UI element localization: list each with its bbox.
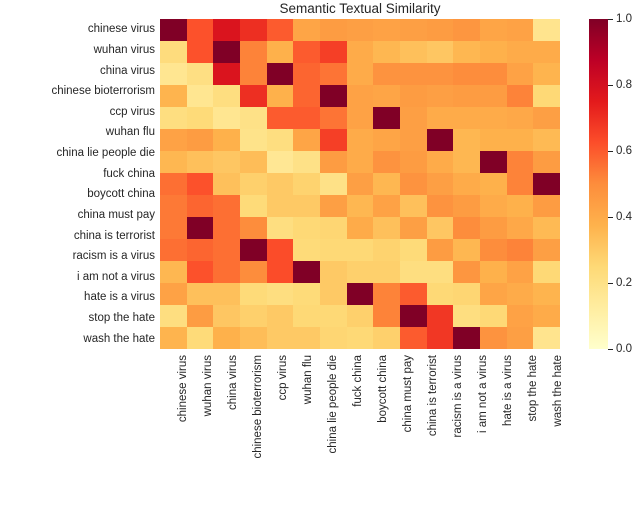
heatmap-cell bbox=[187, 195, 214, 217]
heatmap-cell bbox=[213, 327, 240, 349]
heatmap-cell bbox=[293, 261, 320, 283]
heatmap-cell bbox=[373, 283, 400, 305]
heatmap-cell bbox=[533, 261, 560, 283]
heatmap-cell bbox=[320, 151, 347, 173]
heatmap-cell bbox=[213, 41, 240, 63]
y-tick-i-am-not-a-virus: i am not a virus bbox=[0, 271, 155, 283]
heatmap-cell bbox=[480, 129, 507, 151]
heatmap-cell bbox=[453, 283, 480, 305]
colorbar-tick-label-1.0: 1.0 bbox=[616, 13, 632, 25]
heatmap-cell bbox=[320, 283, 347, 305]
x-tick-china-is-terrorist: china is terrorist bbox=[427, 355, 439, 436]
heatmap-cell bbox=[320, 261, 347, 283]
heatmap-cell bbox=[373, 173, 400, 195]
heatmap-cell bbox=[187, 129, 214, 151]
heatmap-cell bbox=[320, 129, 347, 151]
heatmap-cell bbox=[240, 107, 267, 129]
heatmap-cell bbox=[533, 173, 560, 195]
heatmap-cell bbox=[400, 41, 427, 63]
heatmap-cell bbox=[507, 129, 534, 151]
heatmap-cell bbox=[160, 283, 187, 305]
heatmap-cell bbox=[187, 63, 214, 85]
x-tick-i-am-not-a-virus: i am not a virus bbox=[477, 355, 489, 433]
heatmap-cell bbox=[507, 107, 534, 129]
heatmap-cell bbox=[427, 107, 454, 129]
heatmap-cell bbox=[533, 239, 560, 261]
heatmap-cell bbox=[267, 173, 294, 195]
heatmap-cell bbox=[453, 107, 480, 129]
heatmap-cell bbox=[427, 41, 454, 63]
heatmap-cell bbox=[480, 283, 507, 305]
heatmap-cell bbox=[373, 151, 400, 173]
heatmap-cell bbox=[347, 85, 374, 107]
heatmap-cell bbox=[240, 283, 267, 305]
heatmap-cell bbox=[507, 261, 534, 283]
heatmap-cell bbox=[347, 261, 374, 283]
heatmap-cell bbox=[427, 85, 454, 107]
x-axis-ticklabels: chinese viruswuhan viruschina viruschine… bbox=[160, 349, 560, 508]
heatmap-cell bbox=[533, 107, 560, 129]
heatmap-cell bbox=[267, 261, 294, 283]
heatmap-cell bbox=[480, 173, 507, 195]
heatmap-cell bbox=[320, 107, 347, 129]
heatmap-cell bbox=[160, 63, 187, 85]
heatmap-cell bbox=[267, 151, 294, 173]
heatmap-cell bbox=[293, 173, 320, 195]
heatmap-cell bbox=[213, 195, 240, 217]
heatmap-cell bbox=[533, 151, 560, 173]
heatmap-cell bbox=[400, 63, 427, 85]
heatmap-cell bbox=[400, 151, 427, 173]
heatmap-cell bbox=[480, 85, 507, 107]
heatmap-cell bbox=[400, 19, 427, 41]
y-tick-chinese-virus: chinese virus bbox=[0, 23, 155, 35]
heatmap-cell bbox=[400, 85, 427, 107]
heatmap-cell bbox=[507, 217, 534, 239]
heatmap-cell bbox=[213, 217, 240, 239]
heatmap-cell bbox=[480, 63, 507, 85]
y-tick-ccp-virus: ccp virus bbox=[0, 106, 155, 118]
heatmap-cell bbox=[320, 327, 347, 349]
heatmap-cell bbox=[507, 195, 534, 217]
heatmap-cell bbox=[187, 107, 214, 129]
heatmap-cell bbox=[480, 19, 507, 41]
colorbar-tick-label-0.4: 0.4 bbox=[616, 211, 632, 223]
heatmap-cell bbox=[373, 217, 400, 239]
heatmap-cell bbox=[507, 305, 534, 327]
heatmap-cell bbox=[267, 63, 294, 85]
heatmap-cell bbox=[240, 41, 267, 63]
heatmap-cell bbox=[427, 151, 454, 173]
heatmap-cell bbox=[533, 217, 560, 239]
heatmap-cell bbox=[373, 107, 400, 129]
heatmap-cell bbox=[347, 305, 374, 327]
heatmap-cell bbox=[507, 151, 534, 173]
heatmap-cell bbox=[267, 129, 294, 151]
heatmap-cell bbox=[187, 85, 214, 107]
heatmap-cell bbox=[213, 85, 240, 107]
y-tick-wash-the-hate: wash the hate bbox=[0, 333, 155, 345]
y-axis-ticklabels: chinese viruswuhan viruschina viruschine… bbox=[0, 19, 155, 349]
heatmap-cell bbox=[160, 107, 187, 129]
heatmap-cell bbox=[187, 173, 214, 195]
heatmap-cell bbox=[160, 305, 187, 327]
heatmap-cell bbox=[160, 195, 187, 217]
heatmap-cell bbox=[267, 107, 294, 129]
heatmap-cell bbox=[400, 239, 427, 261]
heatmap-cell bbox=[320, 305, 347, 327]
heatmap-cell bbox=[160, 41, 187, 63]
heatmap-cell bbox=[293, 283, 320, 305]
heatmap-cell bbox=[427, 327, 454, 349]
heatmap-cell bbox=[427, 217, 454, 239]
y-tick-china-virus: china virus bbox=[0, 65, 155, 77]
heatmap-cell bbox=[347, 63, 374, 85]
heatmap-cell bbox=[453, 239, 480, 261]
heatmap-cell bbox=[213, 129, 240, 151]
heatmap-cell bbox=[267, 195, 294, 217]
heatmap-cell bbox=[213, 19, 240, 41]
x-tick-ccp-virus: ccp virus bbox=[277, 355, 289, 400]
chart-title: Semantic Textual Similarity bbox=[160, 1, 560, 17]
colorbar-tick-mark bbox=[608, 19, 613, 20]
heatmap-cell bbox=[373, 63, 400, 85]
heatmap-cell bbox=[160, 261, 187, 283]
heatmap-cell bbox=[267, 85, 294, 107]
heatmap-cell bbox=[320, 19, 347, 41]
heatmap-cell bbox=[347, 327, 374, 349]
y-tick-boycott-china: boycott china bbox=[0, 188, 155, 200]
heatmap-cell bbox=[453, 305, 480, 327]
heatmap-cell bbox=[347, 129, 374, 151]
heatmap-cell bbox=[347, 107, 374, 129]
heatmap-cell bbox=[240, 261, 267, 283]
x-tick-wuhan-virus: wuhan virus bbox=[202, 355, 214, 416]
heatmap-cell bbox=[427, 173, 454, 195]
heatmap-cell bbox=[347, 41, 374, 63]
heatmap-cell bbox=[480, 261, 507, 283]
heatmap-cell bbox=[400, 217, 427, 239]
x-tick-wuhan-flu: wuhan flu bbox=[302, 355, 314, 404]
heatmap-cell bbox=[453, 63, 480, 85]
x-tick-fuck-china: fuck china bbox=[352, 355, 364, 407]
heatmap-cell bbox=[373, 41, 400, 63]
heatmap-cell bbox=[533, 195, 560, 217]
heatmap-cell bbox=[240, 19, 267, 41]
heatmap-cell bbox=[293, 305, 320, 327]
heatmap-cell bbox=[347, 217, 374, 239]
heatmap-cell bbox=[453, 19, 480, 41]
x-tick-china-virus: china virus bbox=[227, 355, 239, 410]
heatmap-cell bbox=[347, 283, 374, 305]
heatmap-cell bbox=[160, 151, 187, 173]
heatmap-cell bbox=[427, 129, 454, 151]
heatmap-cell bbox=[240, 195, 267, 217]
heatmap-cell bbox=[533, 283, 560, 305]
heatmap-cell bbox=[240, 63, 267, 85]
heatmap-cell bbox=[427, 283, 454, 305]
heatmap-cell bbox=[453, 173, 480, 195]
x-tick-chinese-bioterrorism: chinese bioterrorism bbox=[252, 355, 264, 459]
y-tick-stop-the-hate: stop the hate bbox=[0, 312, 155, 324]
y-tick-wuhan-flu: wuhan flu bbox=[0, 126, 155, 138]
x-tick-stop-the-hate: stop the hate bbox=[527, 355, 539, 422]
heatmap-cell bbox=[480, 41, 507, 63]
heatmap-cell bbox=[187, 327, 214, 349]
heatmap-cell bbox=[373, 19, 400, 41]
heatmap-cell bbox=[320, 173, 347, 195]
heatmap-cell bbox=[187, 19, 214, 41]
x-tick-chinese-virus: chinese virus bbox=[177, 355, 189, 422]
x-tick-china-must-pay: china must pay bbox=[402, 355, 414, 432]
heatmap-cell bbox=[533, 41, 560, 63]
heatmap-cell bbox=[533, 85, 560, 107]
heatmap-cell bbox=[373, 85, 400, 107]
heatmap-cell bbox=[480, 305, 507, 327]
heatmap-cell bbox=[453, 261, 480, 283]
heatmap-cell bbox=[373, 129, 400, 151]
heatmap-cell bbox=[347, 173, 374, 195]
heatmap-cell bbox=[533, 327, 560, 349]
colorbar-tick-mark bbox=[608, 217, 613, 218]
heatmap-cell bbox=[267, 327, 294, 349]
colorbar-tick-label-0.2: 0.2 bbox=[616, 277, 632, 289]
heatmap-cell bbox=[320, 85, 347, 107]
heatmap-cell bbox=[293, 239, 320, 261]
heatmap-cell bbox=[240, 129, 267, 151]
heatmap-cell bbox=[480, 151, 507, 173]
colorbar-tick-mark bbox=[608, 151, 613, 152]
heatmap-cell bbox=[507, 41, 534, 63]
heatmap-cell bbox=[453, 195, 480, 217]
heatmap-plot-area bbox=[160, 19, 560, 349]
heatmap-cell bbox=[293, 85, 320, 107]
heatmap-cell bbox=[400, 261, 427, 283]
heatmap-cell bbox=[213, 305, 240, 327]
heatmap-cell bbox=[160, 19, 187, 41]
heatmap-cell bbox=[533, 129, 560, 151]
heatmap-cell bbox=[187, 151, 214, 173]
heatmap-cell bbox=[293, 195, 320, 217]
heatmap-cell bbox=[453, 85, 480, 107]
colorbar-tick-label-0.0: 0.0 bbox=[616, 343, 632, 355]
heatmap-cell bbox=[187, 261, 214, 283]
heatmap-cell bbox=[400, 283, 427, 305]
colorbar-tick-mark bbox=[608, 349, 613, 350]
heatmap-cell bbox=[240, 305, 267, 327]
heatmap-cell bbox=[240, 239, 267, 261]
heatmap-cell bbox=[213, 173, 240, 195]
heatmap-cell bbox=[187, 41, 214, 63]
heatmap-cell bbox=[187, 239, 214, 261]
heatmap-cell bbox=[453, 41, 480, 63]
y-tick-china-lie-people-die: china lie people die bbox=[0, 147, 155, 159]
heatmap-cell bbox=[453, 217, 480, 239]
heatmap-cell bbox=[400, 173, 427, 195]
heatmap-cell bbox=[160, 129, 187, 151]
heatmap-cell bbox=[507, 283, 534, 305]
heatmap-cell bbox=[240, 217, 267, 239]
heatmap-cell bbox=[507, 327, 534, 349]
x-tick-racism-is-a-virus: racism is a virus bbox=[452, 355, 464, 437]
heatmap-cell bbox=[267, 239, 294, 261]
x-tick-wash-the-hate: wash the hate bbox=[552, 355, 564, 427]
heatmap-cell bbox=[427, 261, 454, 283]
heatmap-cell bbox=[267, 217, 294, 239]
x-tick-hate-is-a-virus: hate is a virus bbox=[502, 355, 514, 426]
heatmap-cell bbox=[187, 217, 214, 239]
heatmap-cell bbox=[160, 173, 187, 195]
y-tick-china-must-pay: china must pay bbox=[0, 209, 155, 221]
heatmap-cell bbox=[320, 195, 347, 217]
heatmap-cell bbox=[347, 19, 374, 41]
y-tick-fuck-china: fuck china bbox=[0, 168, 155, 180]
heatmap-cell bbox=[373, 261, 400, 283]
y-tick-chinese-bioterrorism: chinese bioterrorism bbox=[0, 85, 155, 97]
heatmap-cell bbox=[347, 239, 374, 261]
heatmap-cell bbox=[293, 63, 320, 85]
heatmap-cell bbox=[293, 107, 320, 129]
heatmap-cell bbox=[480, 217, 507, 239]
heatmap-cell bbox=[373, 305, 400, 327]
y-tick-china-is-terrorist: china is terrorist bbox=[0, 230, 155, 242]
heatmap-cell bbox=[213, 239, 240, 261]
heatmap-cell bbox=[427, 239, 454, 261]
heatmap-cell bbox=[400, 305, 427, 327]
heatmap-grid bbox=[160, 19, 560, 349]
heatmap-cell bbox=[507, 239, 534, 261]
heatmap-cell bbox=[347, 151, 374, 173]
heatmap-cell bbox=[320, 217, 347, 239]
heatmap-cell bbox=[213, 261, 240, 283]
colorbar-tick-label-0.8: 0.8 bbox=[616, 79, 632, 91]
heatmap-cell bbox=[507, 173, 534, 195]
heatmap-cell bbox=[533, 19, 560, 41]
heatmap-cell bbox=[373, 239, 400, 261]
heatmap-cell bbox=[453, 327, 480, 349]
heatmap-cell bbox=[293, 327, 320, 349]
heatmap-cell bbox=[240, 85, 267, 107]
heatmap-cell bbox=[533, 305, 560, 327]
colorbar-tick-mark bbox=[608, 283, 613, 284]
heatmap-cell bbox=[427, 305, 454, 327]
y-tick-hate-is-a-virus: hate is a virus bbox=[0, 291, 155, 303]
heatmap-cell bbox=[400, 129, 427, 151]
heatmap-cell bbox=[293, 129, 320, 151]
heatmap-cell bbox=[453, 129, 480, 151]
x-tick-china-lie-people-die: china lie people die bbox=[327, 355, 339, 453]
heatmap-cell bbox=[427, 195, 454, 217]
heatmap-cell bbox=[160, 217, 187, 239]
heatmap-cell bbox=[213, 151, 240, 173]
heatmap-cell bbox=[267, 41, 294, 63]
heatmap-cell bbox=[373, 195, 400, 217]
heatmap-cell bbox=[533, 63, 560, 85]
heatmap-cell bbox=[240, 151, 267, 173]
heatmap-cell bbox=[427, 63, 454, 85]
heatmap-cell bbox=[293, 41, 320, 63]
y-tick-wuhan-virus: wuhan virus bbox=[0, 44, 155, 56]
heatmap-cell bbox=[400, 107, 427, 129]
colorbar-tick-mark bbox=[608, 85, 613, 86]
heatmap-cell bbox=[267, 305, 294, 327]
heatmap-cell bbox=[267, 283, 294, 305]
heatmap-cell bbox=[293, 151, 320, 173]
y-tick-racism-is-a-virus: racism is a virus bbox=[0, 250, 155, 262]
heatmap-cell bbox=[480, 107, 507, 129]
heatmap-cell bbox=[400, 195, 427, 217]
heatmap-cell bbox=[507, 63, 534, 85]
heatmap-cell bbox=[160, 85, 187, 107]
heatmap-cell bbox=[347, 195, 374, 217]
heatmap-cell bbox=[507, 19, 534, 41]
heatmap-cell bbox=[240, 327, 267, 349]
heatmap-cell bbox=[213, 63, 240, 85]
heatmap-cell bbox=[320, 63, 347, 85]
heatmap-cell bbox=[160, 327, 187, 349]
figure-canvas: Semantic Textual Similarity chinese viru… bbox=[0, 0, 640, 508]
x-tick-boycott-china: boycott china bbox=[377, 355, 389, 423]
heatmap-cell bbox=[373, 327, 400, 349]
colorbar-gradient bbox=[589, 19, 608, 349]
heatmap-cell bbox=[213, 107, 240, 129]
heatmap-cell bbox=[293, 217, 320, 239]
heatmap-cell bbox=[187, 283, 214, 305]
heatmap-cell bbox=[507, 85, 534, 107]
heatmap-cell bbox=[320, 41, 347, 63]
heatmap-cell bbox=[187, 305, 214, 327]
heatmap-cell bbox=[160, 239, 187, 261]
heatmap-cell bbox=[213, 283, 240, 305]
heatmap-cell bbox=[400, 327, 427, 349]
heatmap-cell bbox=[453, 151, 480, 173]
heatmap-cell bbox=[240, 173, 267, 195]
heatmap-cell bbox=[320, 239, 347, 261]
heatmap-cell bbox=[480, 239, 507, 261]
heatmap-cell bbox=[427, 19, 454, 41]
heatmap-cell bbox=[293, 19, 320, 41]
heatmap-cell bbox=[480, 195, 507, 217]
heatmap-cell bbox=[267, 19, 294, 41]
colorbar-tick-label-0.6: 0.6 bbox=[616, 145, 632, 157]
heatmap-cell bbox=[480, 327, 507, 349]
